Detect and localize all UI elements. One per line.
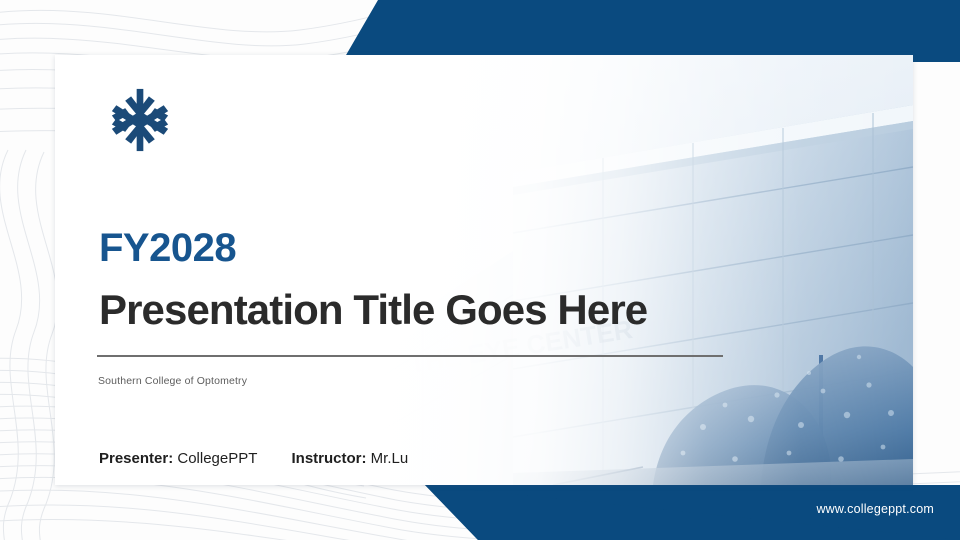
byline: Presenter: CollegePPT Instructor: Mr.Lu — [99, 450, 408, 467]
instructor-label: Instructor: — [292, 450, 367, 467]
footer-url[interactable]: www.collegeppt.com — [816, 502, 934, 516]
card-content: FY2028 Presentation Title Goes Here Sout… — [55, 55, 913, 485]
top-blue-wedge — [0, 0, 960, 62]
instructor-value: Mr.Lu — [371, 450, 409, 467]
fiscal-year-label: FY2028 — [99, 228, 236, 268]
snowflake-logo — [103, 83, 177, 157]
presenter-value: CollegePPT — [177, 450, 257, 467]
presentation-slide: www.collegeppt.com — [0, 0, 960, 540]
presenter-label: Presenter: — [99, 450, 173, 467]
title-card: THE EYE CENTER — [55, 55, 913, 485]
title-divider — [97, 355, 723, 357]
organization-name: Southern College of Optometry — [98, 375, 247, 387]
page-title: Presentation Title Goes Here — [99, 288, 647, 332]
